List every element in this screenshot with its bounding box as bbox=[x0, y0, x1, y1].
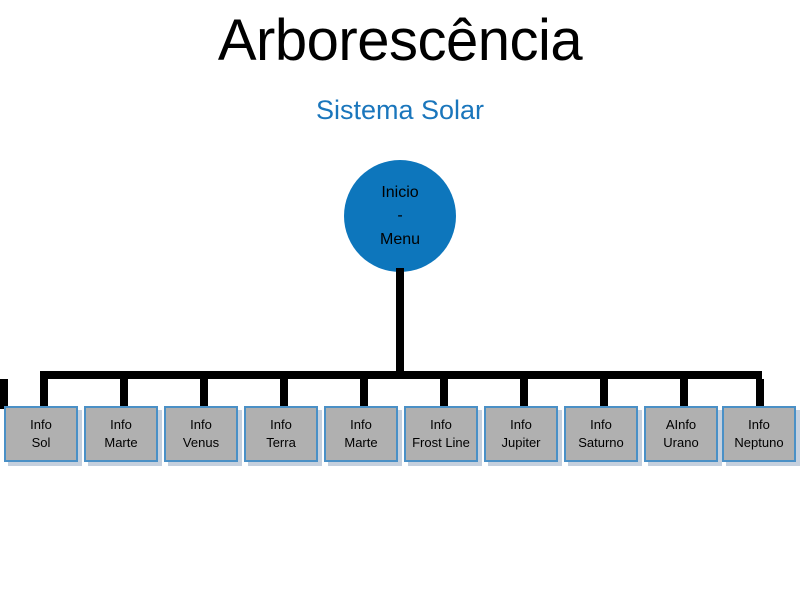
leaf-node-terra[interactable]: Info Terra bbox=[244, 406, 318, 462]
stem-connector-3 bbox=[200, 379, 208, 409]
stem-connector-9 bbox=[680, 379, 688, 409]
leaf-node-marte-2[interactable]: Info Marte bbox=[324, 406, 398, 462]
leaf-label-line-2: Jupiter bbox=[501, 434, 540, 452]
leaf-label-line-2: Neptuno bbox=[734, 434, 783, 452]
leaf-node-venus[interactable]: Info Venus bbox=[164, 406, 238, 462]
leaf-label-line-1: Info bbox=[748, 416, 770, 434]
leaf-label-line-2: Sol bbox=[32, 434, 51, 452]
trunk-connector bbox=[396, 268, 404, 376]
leaf-node-sol[interactable]: Info Sol bbox=[4, 406, 78, 462]
leaf-label-line-1: Info bbox=[110, 416, 132, 434]
leaf-label-line-1: Info bbox=[30, 416, 52, 434]
leaf-label-line-1: Info bbox=[270, 416, 292, 434]
leaf-label-line-2: Marte bbox=[104, 434, 137, 452]
leaf-node-neptuno[interactable]: Info Neptuno bbox=[722, 406, 796, 462]
leaf-label-line-2: Venus bbox=[183, 434, 219, 452]
leaf-node-urano[interactable]: AInfo Urano bbox=[644, 406, 718, 462]
leaf-label-line-2: Urano bbox=[663, 434, 698, 452]
leaf-node-saturno[interactable]: Info Saturno bbox=[564, 406, 638, 462]
diagram-canvas: Arborescência Sistema Solar Inicio - Men… bbox=[0, 0, 800, 600]
root-node-line-2: - bbox=[397, 204, 402, 227]
stem-connector-1 bbox=[40, 379, 48, 409]
leaf-label-line-1: Info bbox=[590, 416, 612, 434]
leaf-label-line-2: Frost Line bbox=[412, 434, 470, 452]
leaf-label-line-2: Saturno bbox=[578, 434, 624, 452]
leaf-label-line-2: Marte bbox=[344, 434, 377, 452]
leaf-label-line-1: Info bbox=[510, 416, 532, 434]
stem-connector-5 bbox=[360, 379, 368, 409]
leaf-label-line-1: Info bbox=[190, 416, 212, 434]
leaf-label-line-1: Info bbox=[430, 416, 452, 434]
stem-connector-2 bbox=[120, 379, 128, 409]
stem-connector-10 bbox=[756, 379, 764, 409]
leaf-node-jupiter[interactable]: Info Jupiter bbox=[484, 406, 558, 462]
leaf-label-line-2: Terra bbox=[266, 434, 296, 452]
leaf-node-marte-1[interactable]: Info Marte bbox=[84, 406, 158, 462]
leaf-node-frost-line[interactable]: Info Frost Line bbox=[404, 406, 478, 462]
root-node-line-3: Menu bbox=[380, 228, 420, 251]
root-node-inicio-menu[interactable]: Inicio - Menu bbox=[344, 160, 456, 272]
horizontal-connector-bar bbox=[40, 371, 762, 379]
leaf-label-line-1: AInfo bbox=[666, 416, 696, 434]
root-node-line-1: Inicio bbox=[381, 181, 418, 204]
page-title: Arborescência bbox=[0, 8, 800, 75]
stem-connector-6 bbox=[440, 379, 448, 409]
stem-connector-7 bbox=[520, 379, 528, 409]
page-subtitle: Sistema Solar bbox=[0, 94, 800, 126]
stem-connector-4b bbox=[280, 379, 288, 409]
stem-connector-4 bbox=[0, 379, 8, 409]
stem-connector-8 bbox=[600, 379, 608, 409]
leaf-label-line-1: Info bbox=[350, 416, 372, 434]
